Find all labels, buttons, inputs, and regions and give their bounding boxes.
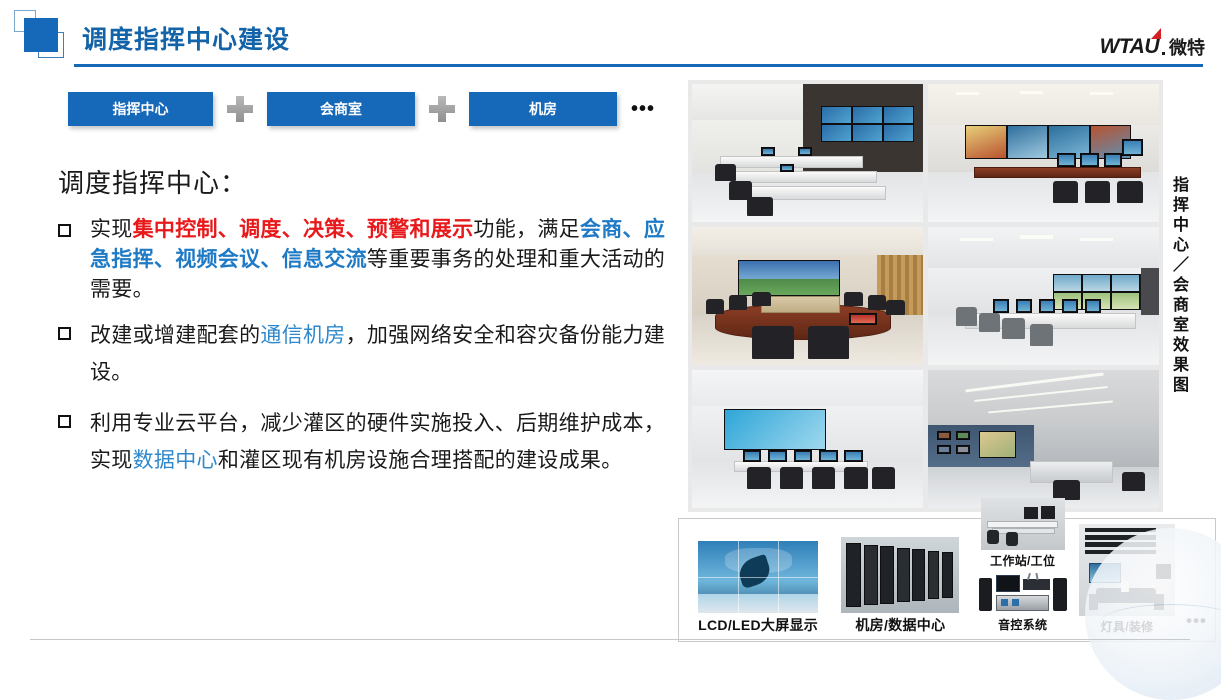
chip-conference-room[interactable]: 会商室 [267, 92, 415, 126]
bullet-text: 实现集中控制、调度、决策、预警和展示功能，满足会商、应急指挥、视频会议、信息交流… [90, 215, 670, 304]
server-racks-icon [841, 537, 959, 613]
bullet-segment: 实现 [90, 218, 133, 241]
strip-label: LCD/LED大屏显示 [698, 615, 818, 635]
strip-label: 音控系统 [998, 616, 1047, 633]
list-item: 改建或增建配套的通信机房，加强网络安全和容灾备份能力建设。 [58, 318, 670, 392]
photo-display-wall-workstations [692, 370, 923, 508]
strip-label: 机房/数据中心 [855, 615, 945, 635]
strip-item-lcd-led[interactable]: LCD/LED大屏显示 [687, 541, 829, 635]
bullet-segment: 功能，满足 [473, 218, 580, 241]
brand-logo: WTAU 微特 [1100, 36, 1205, 57]
section-heading: 调度指挥中心： [58, 163, 247, 200]
brand-latin-text: WTAU [1100, 36, 1159, 57]
gallery-caption: 指挥中心／会商室效果图 [1170, 176, 1186, 396]
bullet-segment-link: 通信机房 [260, 324, 345, 347]
photo-exhibition-control-hall [928, 370, 1159, 508]
square-bullet-icon [58, 224, 71, 237]
photo-command-center-desks [692, 84, 923, 222]
audio-system-icon [977, 572, 1069, 614]
bullet-segment-emphasis-red: 集中控制、调度、决策、预警和展示 [133, 218, 474, 241]
list-item: 利用专业云平台，减少灌区的硬件实施投入、后期维护成本，实现数据中心和灌区现有机房… [58, 406, 670, 480]
square-bullet-icon [58, 415, 71, 428]
photo-gallery [688, 80, 1163, 512]
brand-accent-tick-icon [1151, 28, 1161, 39]
list-item: 实现集中控制、调度、决策、预警和展示功能，满足会商、应急指挥、视频会议、信息交流… [58, 215, 670, 304]
photo-video-wall-map-room [928, 84, 1159, 222]
chips-ellipsis[interactable]: ••• [631, 99, 655, 119]
slide-root: 调度指挥中心建设 WTAU 微特 指挥中心 会商室 [0, 0, 1221, 648]
title-underline [74, 64, 1203, 67]
square-bullet-icon [58, 327, 71, 340]
plus-icon [424, 92, 460, 126]
bullet-segment: 改建或增建配套的 [90, 324, 260, 347]
photo-conference-room [692, 227, 923, 365]
chip-command-center[interactable]: 指挥中心 [68, 92, 213, 126]
strip-item-workstation-audio[interactable]: 工作站/工位 音控系统 [972, 498, 1074, 635]
footer-divider [30, 639, 1190, 640]
workstation-icon [981, 498, 1065, 550]
plus-icon [222, 92, 258, 126]
brand-dot-icon [1162, 52, 1165, 55]
page-title: 调度指挥中心建设 [82, 20, 290, 56]
bullet-segment: 和灌区现有机房设施合理搭配的建设成果。 [218, 449, 623, 472]
bullet-segment-link: 数据中心 [133, 449, 218, 472]
brand-chinese-text: 微特 [1169, 39, 1205, 57]
lcd-video-wall-icon [698, 541, 818, 613]
bullet-text: 改建或增建配套的通信机房，加强网络安全和容灾备份能力建设。 [90, 318, 670, 392]
photo-monitor-row-control-room [928, 227, 1159, 365]
bullet-text: 利用专业云平台，减少灌区的硬件实施投入、后期维护成本，实现数据中心和灌区现有机房… [90, 406, 670, 480]
bullet-list: 实现集中控制、调度、决策、预警和展示功能，满足会商、应急指挥、视频会议、信息交流… [58, 215, 670, 493]
square-filled [24, 18, 58, 52]
process-chips-row: 指挥中心 会商室 机房 ••• [68, 92, 655, 126]
squares-logo [14, 10, 78, 66]
strip-item-server-room[interactable]: 机房/数据中心 [829, 537, 971, 635]
strip-label: 工作站/工位 [990, 552, 1055, 569]
chip-machine-room[interactable]: 机房 [469, 92, 617, 126]
